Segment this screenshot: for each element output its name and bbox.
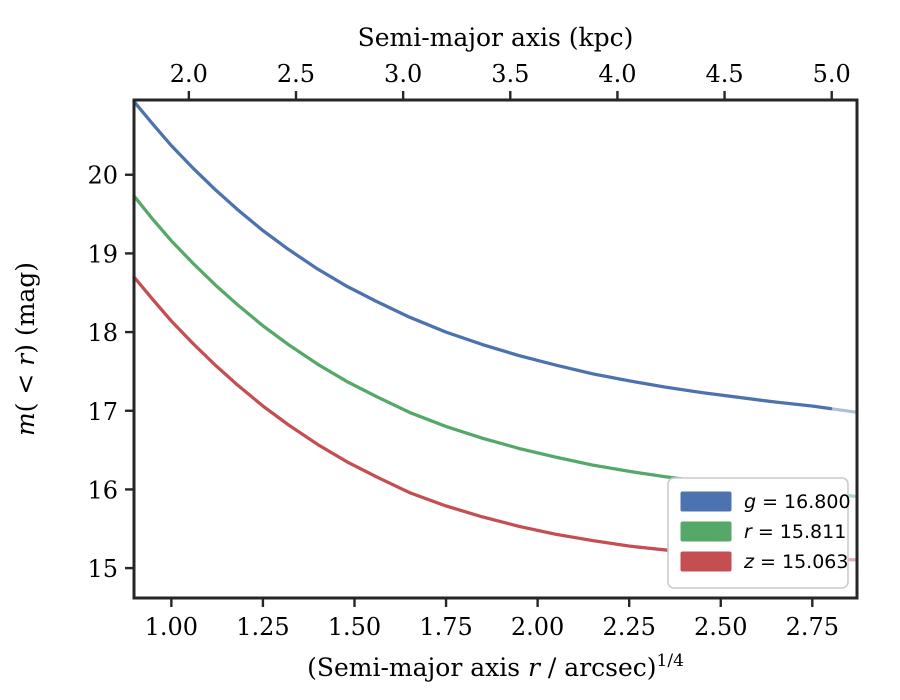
legend: g = 16.800r = 15.811z = 15.063: [668, 478, 851, 588]
ytick-label: 17: [87, 398, 118, 426]
xtick-label-top: 2.5: [277, 60, 315, 88]
ytick-label: 15: [87, 555, 118, 583]
xtick-label-bottom: 1.25: [236, 613, 289, 641]
xtick-label-top: 5.0: [813, 60, 851, 88]
secondary-x-axis-label: Semi-major axis (kpc): [358, 23, 634, 52]
cumulative-magnitude-plot: 1.001.251.501.752.002.252.502.752.02.53.…: [0, 0, 900, 700]
legend-swatch-g: [681, 492, 731, 511]
xtick-label-top: 4.0: [598, 60, 636, 88]
legend-swatch-r: [681, 522, 731, 541]
y-axis-label-group: m( < r) (mag): [11, 262, 40, 436]
xtick-label-bottom: 1.75: [419, 613, 472, 641]
xtick-label-bottom: 1.00: [145, 613, 198, 641]
xtick-label-bottom: 2.50: [694, 613, 747, 641]
xtick-label-bottom: 2.75: [786, 613, 839, 641]
xtick-label-bottom: 1.50: [328, 613, 381, 641]
ytick-label: 19: [87, 240, 118, 268]
xtick-label-bottom: 2.00: [511, 613, 564, 641]
xtick-label-top: 2.0: [170, 60, 208, 88]
legend-swatch-z: [681, 552, 731, 571]
xtick-label-top: 3.5: [491, 60, 529, 88]
xtick-label-top: 4.5: [705, 60, 743, 88]
x-axis-label: (Semi-major axis r / arcsec)1/4: [307, 651, 684, 682]
ytick-label: 20: [87, 162, 118, 190]
ytick-label: 16: [87, 476, 118, 504]
figure-canvas: 1.001.251.501.752.002.252.502.752.02.53.…: [0, 0, 900, 700]
legend-label-r: r = 15.811: [744, 521, 846, 543]
ytick-label: 18: [87, 319, 118, 347]
legend-label-g: g = 16.800: [744, 491, 851, 513]
xtick-label-bottom: 2.25: [602, 613, 655, 641]
xtick-label-top: 3.0: [384, 60, 422, 88]
y-axis-label: m( < r) (mag): [11, 262, 40, 436]
legend-label-z: z = 15.063: [743, 551, 848, 573]
